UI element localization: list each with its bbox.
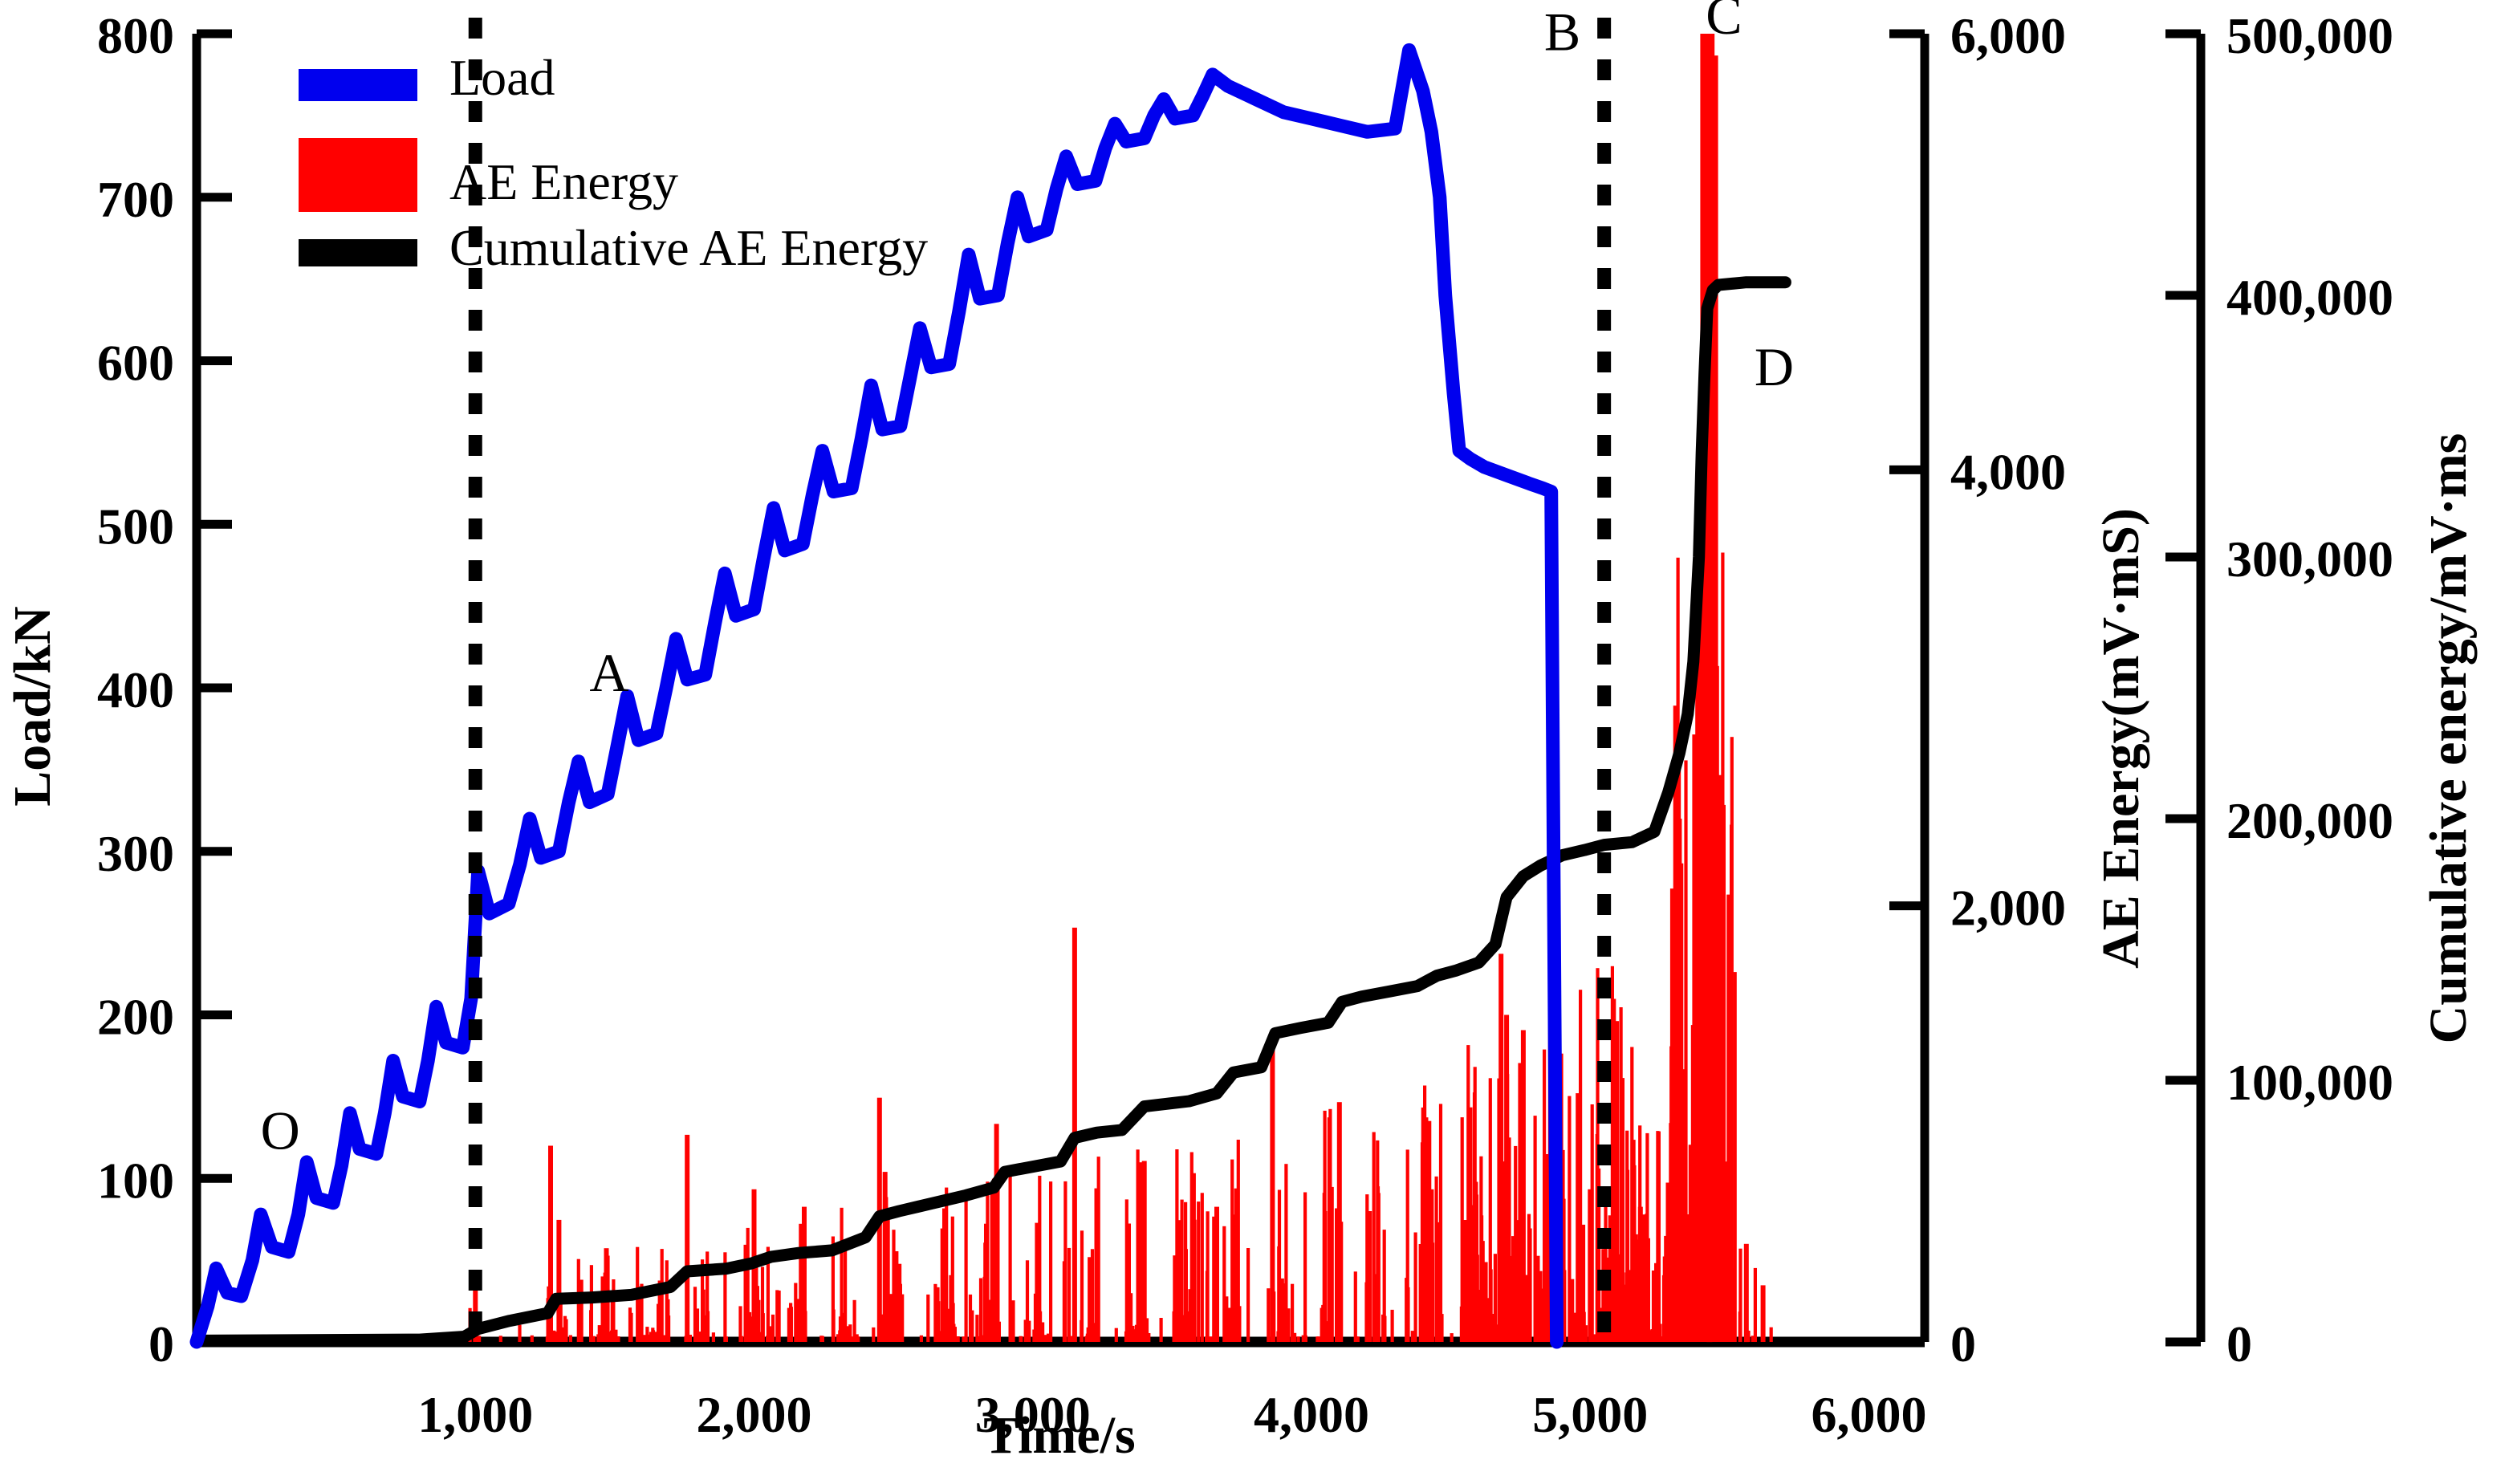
right-ae-tick-label: 2,000 bbox=[1950, 880, 2066, 937]
ae-energy-bar bbox=[629, 1313, 632, 1342]
legend-swatch-load bbox=[299, 69, 417, 101]
ae-energy-bar bbox=[1270, 1041, 1275, 1342]
ae-energy-bar bbox=[802, 1207, 807, 1342]
ae-energy-bar bbox=[856, 1336, 860, 1342]
ae-energy-bar bbox=[832, 1310, 836, 1343]
ae-energy-bar bbox=[518, 1325, 521, 1342]
ae-energy-bar bbox=[1439, 1104, 1442, 1342]
ae-energy-bar bbox=[821, 1336, 824, 1342]
ae-energy-bar bbox=[1356, 1336, 1360, 1342]
ae-energy-bar bbox=[1730, 737, 1734, 1342]
ae-energy-bar bbox=[1528, 1229, 1531, 1343]
ae-energy-bar bbox=[1494, 1254, 1497, 1342]
left-tick-label: 200 bbox=[97, 989, 174, 1046]
ae-energy-bar bbox=[1193, 1220, 1197, 1342]
ae-energy-bar bbox=[1504, 1015, 1509, 1343]
ae-energy-bar bbox=[1137, 1149, 1140, 1342]
ae-energy-bar bbox=[920, 1336, 923, 1342]
ae-energy-bar bbox=[1293, 1333, 1296, 1342]
ae-energy-bar bbox=[1734, 972, 1737, 1342]
ae-energy-bar bbox=[1521, 1031, 1526, 1343]
ae-energy-bar bbox=[1584, 1325, 1588, 1342]
ae-energy-bar bbox=[1498, 953, 1503, 1342]
ae-energy-bar bbox=[957, 1336, 960, 1342]
x-axis-title: Time/s bbox=[983, 1406, 1135, 1465]
ae-energy-bar bbox=[706, 1311, 710, 1343]
ae-energy-bar bbox=[1657, 1132, 1661, 1342]
ae-energy-bar bbox=[662, 1336, 665, 1343]
ae-energy-bar bbox=[1770, 1327, 1773, 1342]
ae-energy-bar bbox=[1304, 1336, 1307, 1342]
ae-energy-bar bbox=[1009, 1176, 1012, 1342]
ae-energy-bar bbox=[1035, 1223, 1038, 1342]
ae-energy-bar bbox=[1331, 1187, 1334, 1342]
ae-energy-bar bbox=[1579, 990, 1582, 1342]
y3-axis-title: Cumulative energy/mV·ms bbox=[2419, 433, 2478, 1044]
ae-energy-bar bbox=[1041, 1323, 1044, 1343]
ae-energy-bar bbox=[850, 1336, 853, 1342]
ae-energy-bar bbox=[725, 1336, 728, 1342]
ae-energy-bar bbox=[1391, 1310, 1394, 1342]
ae-energy-bar bbox=[1177, 1220, 1181, 1342]
ae-energy-bar bbox=[762, 1313, 765, 1342]
legend-swatch-cumulative bbox=[299, 239, 417, 266]
ae-energy-bar bbox=[1677, 819, 1681, 1342]
ae-energy-bar bbox=[1197, 1201, 1200, 1342]
ae-energy-bar bbox=[531, 1336, 534, 1342]
right-ae-tick-label: 6,000 bbox=[1950, 7, 2066, 64]
ae-energy-bar bbox=[653, 1332, 657, 1342]
legend-swatch-ae-energy bbox=[299, 138, 417, 212]
ae-energy-bar bbox=[844, 1242, 847, 1342]
ae-energy-bar bbox=[1238, 1306, 1241, 1342]
ae-energy-bar bbox=[1049, 1181, 1052, 1342]
ae-energy-bar bbox=[1450, 1333, 1454, 1342]
ae-energy-bar bbox=[1377, 1193, 1381, 1342]
ae-energy-bar bbox=[926, 1295, 929, 1342]
right-cum-tick-label: 200,000 bbox=[2226, 792, 2393, 849]
ae-energy-bar bbox=[1368, 1211, 1372, 1342]
ae-energy-bar bbox=[1592, 1334, 1596, 1342]
ae-energy-bar bbox=[1429, 1189, 1433, 1342]
ae-energy-bar bbox=[1545, 1154, 1548, 1342]
x-tick-label: 1,000 bbox=[417, 1386, 533, 1443]
stage-annotation-label: C bbox=[1706, 0, 1742, 46]
ae-energy-bar bbox=[1209, 1336, 1212, 1342]
ae-energy-bar bbox=[616, 1336, 620, 1342]
ae-energy-bar bbox=[1476, 1254, 1479, 1342]
ae-energy-bar bbox=[1754, 1268, 1757, 1342]
ae-load-time-chart: 0100200300400500600700800 1,0002,0003,00… bbox=[0, 0, 2513, 1484]
ae-energy-bar bbox=[1201, 1193, 1204, 1342]
ae-energy-bar bbox=[1019, 1336, 1023, 1342]
ae-energy-bar bbox=[965, 1198, 968, 1342]
ae-energy-bar bbox=[1067, 1248, 1071, 1342]
y-axis-title: Load/kN bbox=[3, 606, 62, 806]
right-ae-tick-label: 4,000 bbox=[1950, 443, 2066, 500]
ae-energy-bar bbox=[1337, 1102, 1342, 1342]
ae-energy-bar bbox=[1647, 1238, 1650, 1342]
ae-energy-bar bbox=[569, 1336, 572, 1343]
right-cum-tick-label: 300,000 bbox=[2226, 531, 2393, 588]
ae-energy-bar bbox=[580, 1280, 584, 1343]
ae-energy-bar bbox=[1027, 1321, 1031, 1342]
left-tick-label: 300 bbox=[97, 825, 174, 882]
legend-label-cumulative: Cumulative AE Energy bbox=[449, 219, 928, 276]
ae-energy-bar bbox=[1287, 1308, 1290, 1342]
ae-energy-bar bbox=[1406, 1287, 1409, 1342]
ae-energy-bar bbox=[564, 1319, 567, 1342]
ae-energy-bar bbox=[1267, 1288, 1270, 1342]
ae-energy-bar bbox=[1088, 1257, 1091, 1342]
x-tick-label: 5,000 bbox=[1532, 1386, 1648, 1443]
ae-energy-bar bbox=[1115, 1328, 1118, 1342]
ae-energy-bar bbox=[771, 1315, 775, 1342]
ae-energy-bar bbox=[979, 1279, 982, 1343]
ae-energy-bar bbox=[1761, 1285, 1766, 1342]
ae-energy-bar bbox=[1206, 1211, 1210, 1342]
ae-energy-bar bbox=[1738, 1249, 1742, 1342]
left-tick-label: 0 bbox=[148, 1315, 174, 1372]
ae-energy-bar bbox=[1080, 1230, 1084, 1342]
right-ae-tick-label: 0 bbox=[1950, 1315, 1976, 1372]
stage-annotation-label: A bbox=[589, 642, 628, 703]
left-tick-label: 700 bbox=[97, 171, 174, 228]
ae-energy-bar bbox=[1616, 1021, 1619, 1342]
right-cum-tick-label: 100,000 bbox=[2226, 1054, 2393, 1111]
y2-axis-title: AE Energy(mV·mS) bbox=[2092, 508, 2150, 969]
ae-energy-bar bbox=[556, 1220, 561, 1342]
ae-energy-bar bbox=[1297, 1336, 1300, 1342]
ae-energy-bar bbox=[667, 1315, 670, 1342]
x-tick-label: 2,000 bbox=[697, 1386, 812, 1443]
stage-annotation-label: D bbox=[1755, 336, 1794, 397]
ae-energy-bar bbox=[740, 1336, 743, 1342]
ae-energy-bar bbox=[994, 1124, 999, 1342]
ae-energy-bar bbox=[1063, 1181, 1067, 1342]
x-tick-label: 4,000 bbox=[1254, 1386, 1369, 1443]
ae-energy-bar bbox=[1160, 1318, 1163, 1342]
left-tick-label: 500 bbox=[97, 498, 174, 555]
ae-energy-bar bbox=[1230, 1160, 1234, 1342]
ae-energy-bar bbox=[1719, 775, 1724, 1342]
ae-energy-bar bbox=[790, 1307, 793, 1342]
stage-annotation-label: O bbox=[261, 1100, 300, 1161]
ae-energy-bar bbox=[1568, 1096, 1571, 1342]
right-cum-tick-label: 0 bbox=[2226, 1315, 2252, 1372]
ae-energy-bar bbox=[1354, 1271, 1357, 1342]
ae-energy-bar bbox=[1534, 1116, 1537, 1342]
legend-label-load: Load bbox=[449, 49, 555, 106]
left-tick-label: 100 bbox=[97, 1152, 174, 1209]
ae-energy-bar bbox=[778, 1291, 781, 1342]
ae-energy-bar bbox=[661, 1249, 664, 1342]
ae-energy-bar bbox=[970, 1311, 974, 1342]
ae-energy-bar bbox=[1714, 666, 1719, 1342]
left-tick-label: 800 bbox=[97, 7, 174, 64]
ae-energy-bar bbox=[954, 1327, 957, 1342]
ae-energy-bar bbox=[1612, 999, 1616, 1343]
ae-energy-bar bbox=[901, 1295, 904, 1342]
ae-energy-bar bbox=[1461, 1117, 1464, 1342]
stage-annotation-label: B bbox=[1544, 1, 1580, 62]
ae-energy-bar bbox=[685, 1135, 689, 1342]
ae-energy-bar bbox=[499, 1336, 502, 1342]
left-tick-label: 400 bbox=[97, 661, 174, 718]
right-cum-tick-label: 500,000 bbox=[2226, 7, 2393, 64]
ae-energy-bar bbox=[1436, 1222, 1439, 1342]
left-tick-label: 600 bbox=[97, 335, 174, 392]
ae-energy-bar bbox=[1303, 1193, 1307, 1343]
ae-energy-bar bbox=[1440, 1314, 1443, 1342]
ae-energy-bar bbox=[1011, 1300, 1015, 1342]
ae-energy-bar bbox=[598, 1325, 601, 1342]
ae-energy-bar bbox=[1638, 1207, 1643, 1342]
chart-root: 0100200300400500600700800 1,0002,0003,00… bbox=[0, 0, 2513, 1484]
ae-energy-bar bbox=[592, 1336, 596, 1342]
ae-energy-bar bbox=[975, 1315, 978, 1342]
ae-energy-bar bbox=[1091, 1249, 1094, 1342]
ae-energy-bar bbox=[1414, 1233, 1417, 1343]
ae-energy-bar bbox=[1097, 1157, 1100, 1342]
x-tick-label: 6,000 bbox=[1812, 1386, 1927, 1443]
legend-label-ae-energy: AE Energy bbox=[449, 153, 678, 210]
ae-energy-bar bbox=[1744, 1244, 1749, 1342]
ae-energy-bar bbox=[1588, 1189, 1592, 1342]
ae-energy-bar bbox=[872, 1327, 875, 1342]
ae-energy-bar bbox=[883, 1172, 888, 1342]
ae-energy-bar bbox=[478, 1336, 481, 1342]
ae-energy-bar bbox=[1147, 1333, 1150, 1342]
ae-energy-bar bbox=[1383, 1316, 1386, 1342]
ae-energy-bar bbox=[712, 1332, 715, 1342]
ae-energy-bar bbox=[1142, 1161, 1147, 1343]
ae-energy-bar bbox=[1317, 1336, 1320, 1342]
ae-energy-bar bbox=[1482, 1241, 1485, 1342]
ae-energy-bar bbox=[1246, 1248, 1250, 1342]
ae-energy-bar bbox=[1214, 1207, 1219, 1342]
right-cum-tick-label: 400,000 bbox=[2226, 269, 2393, 326]
